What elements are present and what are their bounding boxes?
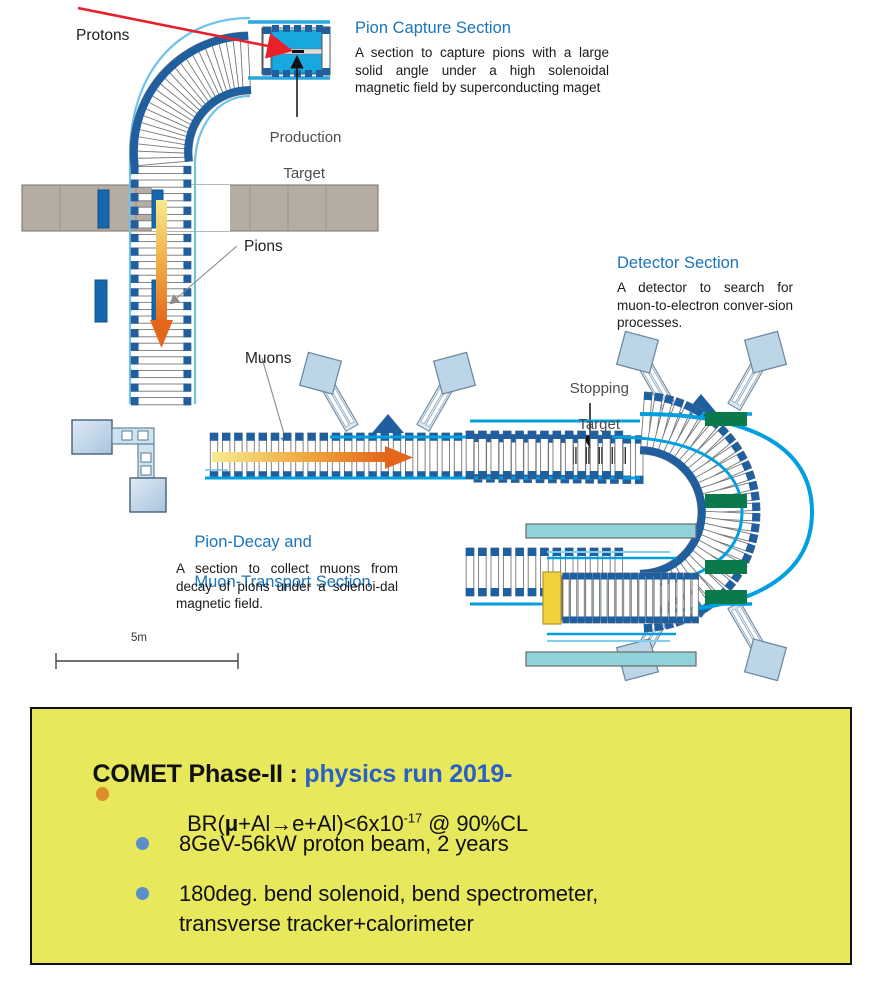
bullet-dot-blue-1 — [136, 837, 149, 850]
section-body-pion-decay: A section to collect muons from decay of… — [176, 560, 398, 613]
production-target-label: Production Target — [253, 111, 339, 201]
detector-section-assembly — [526, 524, 699, 666]
pions-label: Pions — [244, 238, 283, 256]
stopping-target-label: Stopping Target — [549, 362, 633, 452]
auxiliary-equipment — [72, 420, 166, 512]
scale-bar — [56, 653, 238, 669]
section-title-pion-capture: Pion Capture Section — [355, 18, 511, 38]
bullet-dot-blue-2 — [136, 887, 149, 900]
section-body-pion-capture: A section to capture pions with a large … — [355, 44, 609, 97]
bullet-detector-spec: 180deg. bend solenoid, bend spectrometer… — [136, 879, 598, 939]
bullet-dot-orange — [96, 787, 109, 801]
muons-pointer — [262, 358, 287, 444]
section-body-detector: A detector to search for muon-to-electro… — [617, 279, 793, 332]
muons-label: Muons — [245, 350, 292, 368]
bullet-proton-beam: 8GeV-56kW proton beam, 2 years — [136, 829, 509, 859]
section-title-detector: Detector Section — [617, 253, 739, 273]
comet-phase2-diagram: Protons Production Target Pions Muons St… — [0, 0, 882, 986]
summary-panel: COMET Phase-II : physics run 2019- BR(μ+… — [30, 707, 852, 965]
bullet-text-detector-spec: 180deg. bend solenoid, bend spectrometer… — [179, 879, 598, 939]
protons-label: Protons — [76, 27, 129, 45]
pion-capture-magnet — [248, 22, 330, 78]
bullet-text-proton-beam: 8GeV-56kW proton beam, 2 years — [179, 829, 509, 859]
scale-bar-label: 5m — [131, 632, 147, 644]
